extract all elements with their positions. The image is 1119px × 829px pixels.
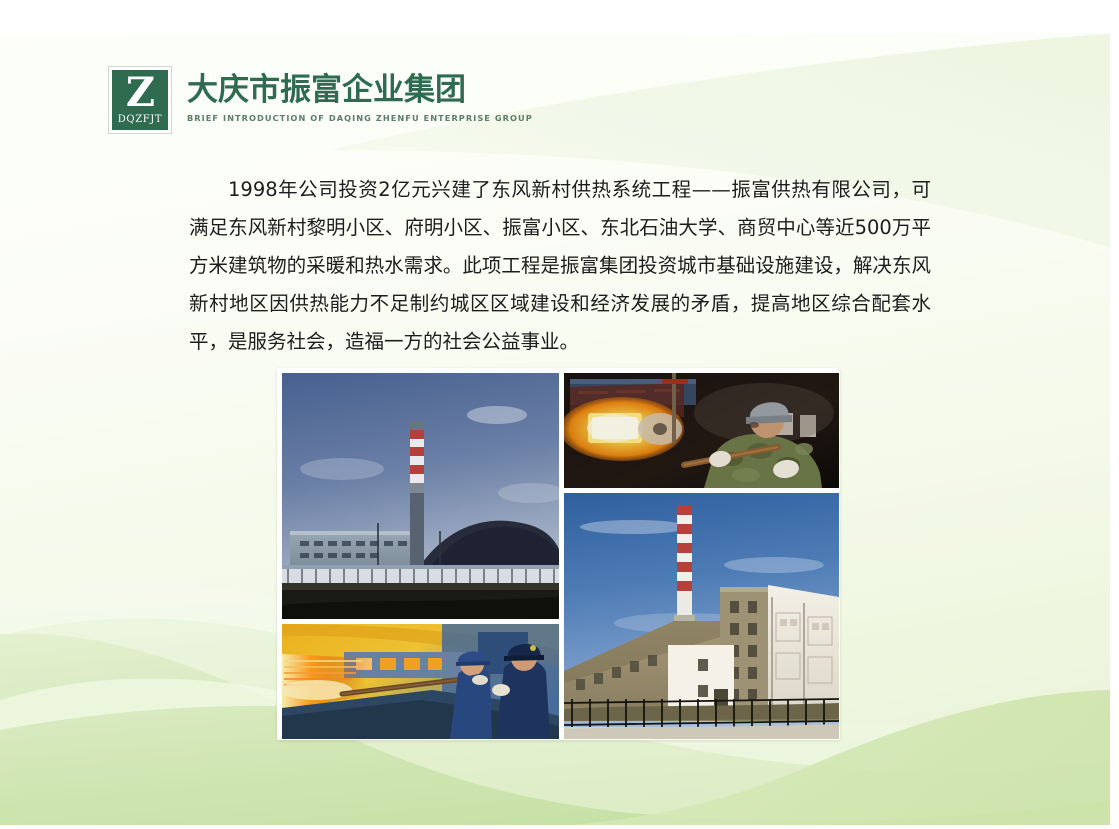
photo-heating-plant-building xyxy=(564,493,839,739)
gallery-right-column xyxy=(564,373,839,739)
bottom-white-margin xyxy=(0,825,1119,829)
right-white-margin xyxy=(1110,0,1119,829)
slide-page: Z DQZFJT 大庆市振富企业集团 BRIEF INTRODUCTION OF… xyxy=(0,0,1119,829)
photo-workers-blue-uniform xyxy=(282,624,559,739)
top-white-band xyxy=(0,0,1119,33)
photo-gallery xyxy=(277,368,840,740)
photo-boiler-furnace-worker xyxy=(564,373,839,488)
page-title: 大庆市振富企业集团 xyxy=(187,72,533,108)
logo-abbreviation: DQZFJT xyxy=(118,114,162,125)
company-logo-z-mark: Z DQZFJT xyxy=(108,66,172,134)
page-header: Z DQZFJT 大庆市振富企业集团 BRIEF INTRODUCTION OF… xyxy=(108,66,533,134)
body-paragraph: 1998年公司投资2亿元兴建了东风新村供热系统工程——振富供热有限公司，可满足东… xyxy=(189,171,931,361)
photo-heating-plant-wide xyxy=(282,373,559,619)
page-subtitle: BRIEF INTRODUCTION OF DAQING ZHENFU ENTE… xyxy=(187,113,533,123)
logo-letter: Z xyxy=(126,73,154,113)
